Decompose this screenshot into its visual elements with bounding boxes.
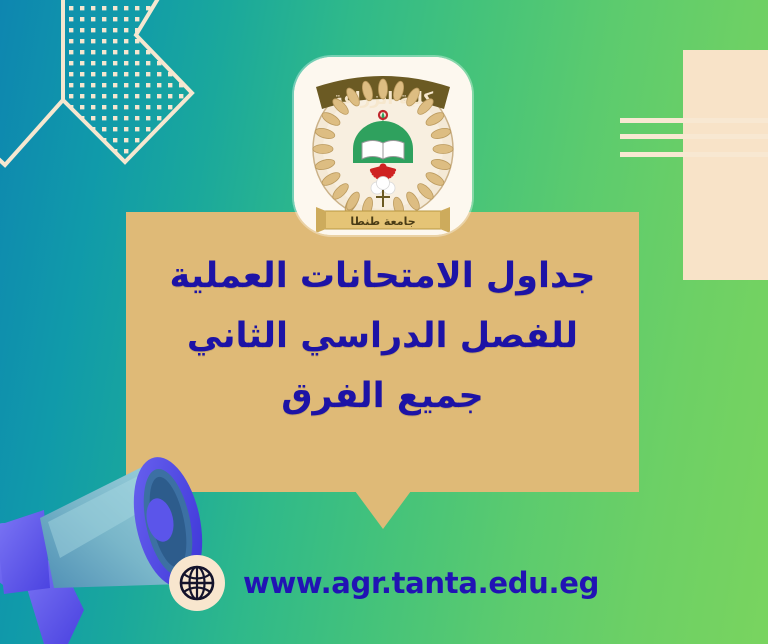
speech-bubble-tail xyxy=(355,491,411,529)
website-url[interactable]: www.agr.tanta.edu.eg xyxy=(243,566,599,600)
faculty-of-agriculture-tanta-emblem-icon: كلية الزراعة xyxy=(294,57,472,235)
footer-bar: www.agr.tanta.edu.eg xyxy=(0,552,768,614)
globe-icon xyxy=(178,564,216,602)
cream-accent-line-2 xyxy=(620,134,768,139)
title-line-1: جداول الامتحانات العملية xyxy=(126,246,639,306)
faculty-logo: كلية الزراعة xyxy=(294,57,472,235)
dotted-chevron-shape xyxy=(0,0,210,192)
cream-accent-line-1 xyxy=(620,118,768,123)
title-line-2: للفصل الدراسي الثاني xyxy=(126,306,639,366)
logo-ribbon-text: جامعة طنطا xyxy=(350,215,415,228)
poster-canvas: جداول الامتحانات العملية للفصل الدراسي ا… xyxy=(0,0,768,644)
title-line-3: جميع الفرق xyxy=(126,366,639,426)
announcement-text: جداول الامتحانات العملية للفصل الدراسي ا… xyxy=(126,246,639,426)
cream-corner-rectangle xyxy=(683,50,768,280)
cream-accent-line-3 xyxy=(620,152,768,157)
globe-badge xyxy=(169,555,225,611)
